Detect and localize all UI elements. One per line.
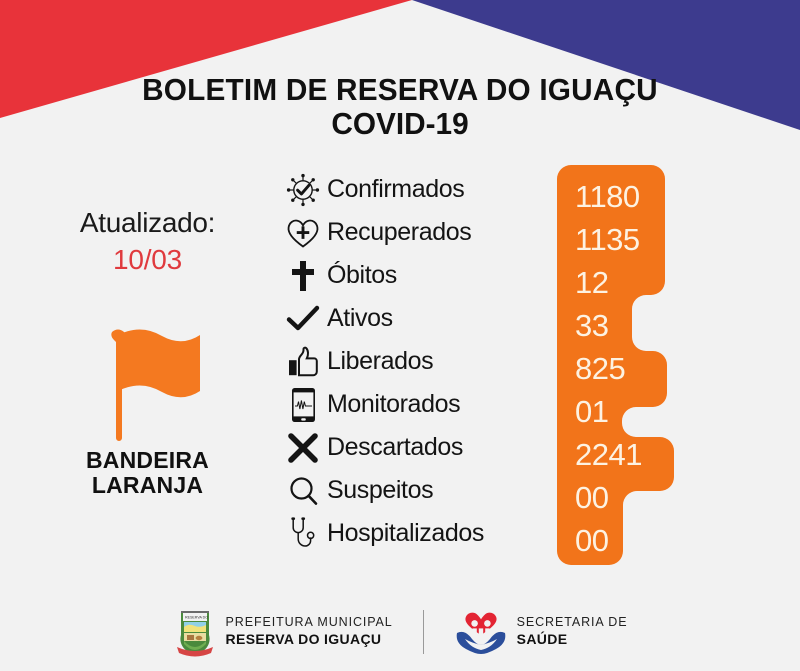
values-panel: 1180 1135 12 33 825 01 2241 00 00 [557, 165, 682, 565]
value-confirmados: 1180 [575, 175, 640, 218]
magnifier-icon [283, 472, 323, 510]
stat-label: Recuperados [327, 218, 471, 247]
title-line-2: COVID-19 [16, 107, 784, 142]
stat-label: Óbitos [327, 261, 397, 290]
updated-label: Atualizado: [20, 205, 275, 240]
prefeitura-line-2: RESERVA DO IGUAÇU [226, 631, 393, 649]
footer: RESERVA DO PREFEITURA MUNICIPAL RESERVA … [0, 607, 800, 657]
title-line-1: BOLETIM DE RESERVA DO IGUAÇU [16, 74, 784, 107]
secretaria-logo: SECRETARIA DE SAÚDE [454, 609, 628, 655]
phone-heartbeat-icon [283, 386, 323, 424]
stat-label: Ativos [327, 304, 393, 333]
flag-icon [92, 324, 204, 446]
stat-label: Suspeitos [327, 476, 433, 505]
values-text-layer: 1180 1135 12 33 825 01 2241 00 00 [557, 165, 682, 565]
stat-label: Monitorados [327, 390, 460, 419]
coat-of-arms-icon: RESERVA DO [173, 607, 217, 657]
stat-row-suspeitos: Suspeitos [283, 469, 558, 512]
stat-row-hospitalizados: Hospitalizados [283, 512, 558, 555]
check-icon [283, 300, 323, 338]
covid-bulletin-poster: BOLETIM DE RESERVA DO IGUAÇU COVID-19 At… [0, 0, 800, 671]
value-monitorados: 01 [575, 390, 608, 433]
value-descartados: 2241 [575, 433, 642, 476]
stat-row-obitos: Óbitos [283, 254, 558, 297]
stat-row-confirmados: Confirmados [283, 168, 558, 211]
flag-label-line-1: BANDEIRA [20, 448, 275, 473]
page-title: BOLETIM DE RESERVA DO IGUAÇU COVID-19 [0, 74, 800, 142]
stat-row-descartados: Descartados [283, 426, 558, 469]
stat-row-monitorados: Monitorados [283, 383, 558, 426]
value-liberados: 825 [575, 347, 625, 390]
stat-label: Hospitalizados [327, 519, 484, 548]
value-hospitalizados: 00 [575, 519, 608, 562]
stat-label: Descartados [327, 433, 463, 462]
updated-date: 10/03 [20, 242, 275, 278]
secretaria-line-1: SECRETARIA DE [517, 615, 628, 631]
stat-row-ativos: Ativos [283, 297, 558, 340]
svg-text:RESERVA DO: RESERVA DO [185, 616, 208, 620]
footer-divider [423, 610, 424, 654]
secretaria-logo-text: SECRETARIA DE SAÚDE [517, 615, 628, 648]
stethoscope-icon [283, 515, 323, 553]
flag-label-line-2: LARANJA [20, 473, 275, 498]
value-recuperados: 1135 [575, 218, 640, 261]
statistics-list: Confirmados Recuperados Óbitos [283, 168, 558, 555]
flag-label: BANDEIRA LARANJA [20, 448, 275, 498]
virus-check-icon [283, 171, 323, 209]
prefeitura-logo: RESERVA DO PREFEITURA MUNICIPAL RESERVA … [173, 607, 393, 657]
flag-graphic [20, 324, 275, 446]
prefeitura-logo-text: PREFEITURA MUNICIPAL RESERVA DO IGUAÇU [226, 615, 393, 648]
stat-row-recuperados: Recuperados [283, 211, 558, 254]
secretaria-line-2: SAÚDE [517, 631, 628, 649]
x-mark-icon [283, 429, 323, 467]
heart-plus-icon [283, 214, 323, 252]
health-hands-heart-icon [454, 609, 508, 655]
cross-icon [283, 257, 323, 295]
stat-row-liberados: Liberados [283, 340, 558, 383]
value-ativos: 33 [575, 304, 608, 347]
update-and-flag-column: Atualizado: 10/03 BANDEIRA LARANJA [20, 205, 275, 498]
stat-label: Confirmados [327, 175, 464, 204]
value-obitos: 12 [575, 261, 608, 304]
value-suspeitos: 00 [575, 476, 608, 519]
thumbs-up-icon [283, 343, 323, 381]
prefeitura-line-1: PREFEITURA MUNICIPAL [226, 615, 393, 631]
stat-label: Liberados [327, 347, 433, 376]
